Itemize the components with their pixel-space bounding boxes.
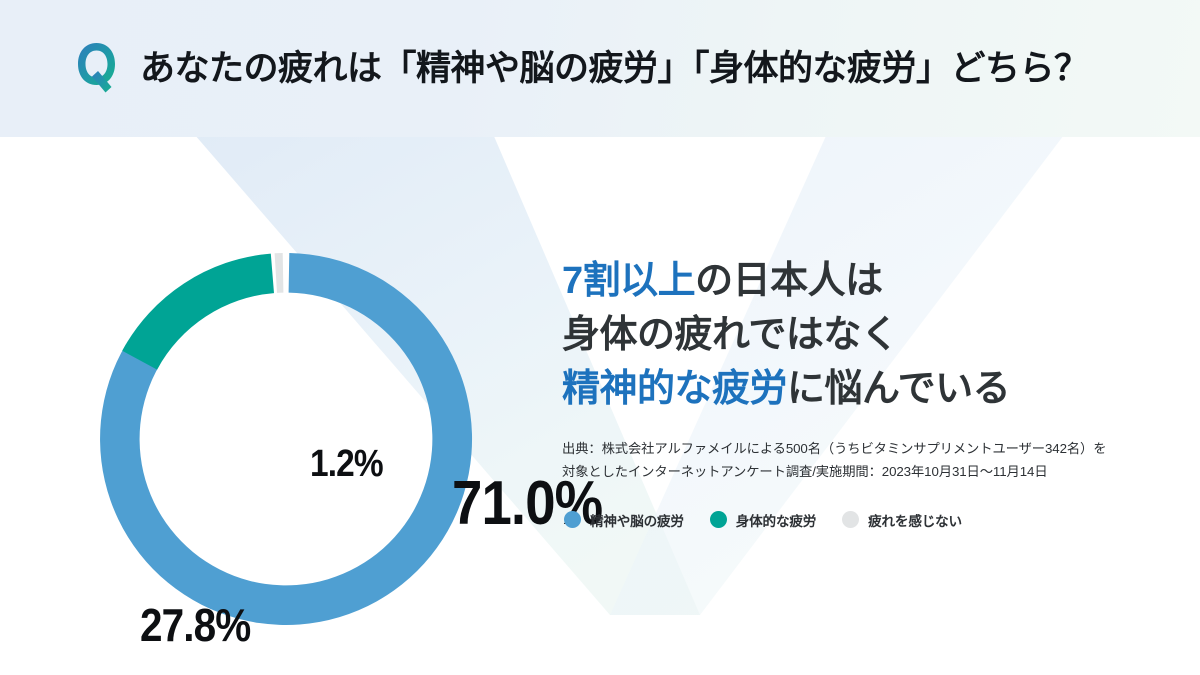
donut-segment-gray[interactable] (275, 253, 284, 293)
legend-item-mental[interactable]: 精神や脳の疲労 (564, 510, 684, 530)
page-title: あなたの疲れは「精神や脳の疲労」「身体的な疲労」どちら？ (140, 51, 1089, 86)
legend-item-none[interactable]: 疲れを感じない (842, 510, 962, 530)
headline-rest-1: の日本人は (695, 260, 883, 302)
percent-label-teal: 27.8% (140, 602, 250, 648)
header-band: あなたの疲れは「精神や脳の疲労」「身体的な疲労」どちら？ (0, 0, 1200, 137)
legend-dot-teal-icon (710, 511, 727, 528)
legend-label-physical: 身体的な疲労 (736, 510, 816, 530)
headline-accent-1: 7割以上 (562, 260, 695, 302)
donut-svg (100, 245, 480, 635)
headline-line-3: 精神的な疲労に悩んでいる (562, 363, 1172, 417)
source-line-2: 対象としたインターネットアンケート調査/実施期間：2023年10月31日〜11月… (562, 461, 1172, 484)
headline-accent-3: 精神的な疲労 (562, 368, 787, 410)
legend-dot-blue-icon (564, 511, 581, 528)
legend-item-physical[interactable]: 身体的な疲労 (710, 510, 816, 530)
legend-label-none: 疲れを感じない (868, 510, 962, 530)
donut-chart: 71.0% 27.8% 1.2% (100, 245, 480, 635)
source-note: 出典：株式会社アルファメイルによる500名（うちビタミンサプリメントユーザー34… (562, 438, 1172, 484)
legend-label-mental: 精神や脳の疲労 (590, 510, 684, 530)
message-panel: 7割以上の日本人は 身体の疲れではなく 精神的な疲労に悩んでいる 出典：株式会社… (562, 255, 1172, 530)
legend-dot-gray-icon (842, 511, 859, 528)
chart-legend: 精神や脳の疲労 身体的な疲労 疲れを感じない (564, 510, 1172, 530)
percent-label-gray: 1.2% (310, 445, 383, 483)
headline-line-1: 7割以上の日本人は (562, 255, 1172, 309)
headline-rest-3: に悩んでいる (787, 368, 1010, 410)
donut-segment-teal[interactable] (122, 254, 274, 370)
question-mark-q-icon (74, 39, 122, 101)
headline-line-2: 身体の疲れではなく (562, 309, 1172, 363)
source-line-1: 出典：株式会社アルファメイルによる500名（うちビタミンサプリメントユーザー34… (562, 438, 1172, 461)
